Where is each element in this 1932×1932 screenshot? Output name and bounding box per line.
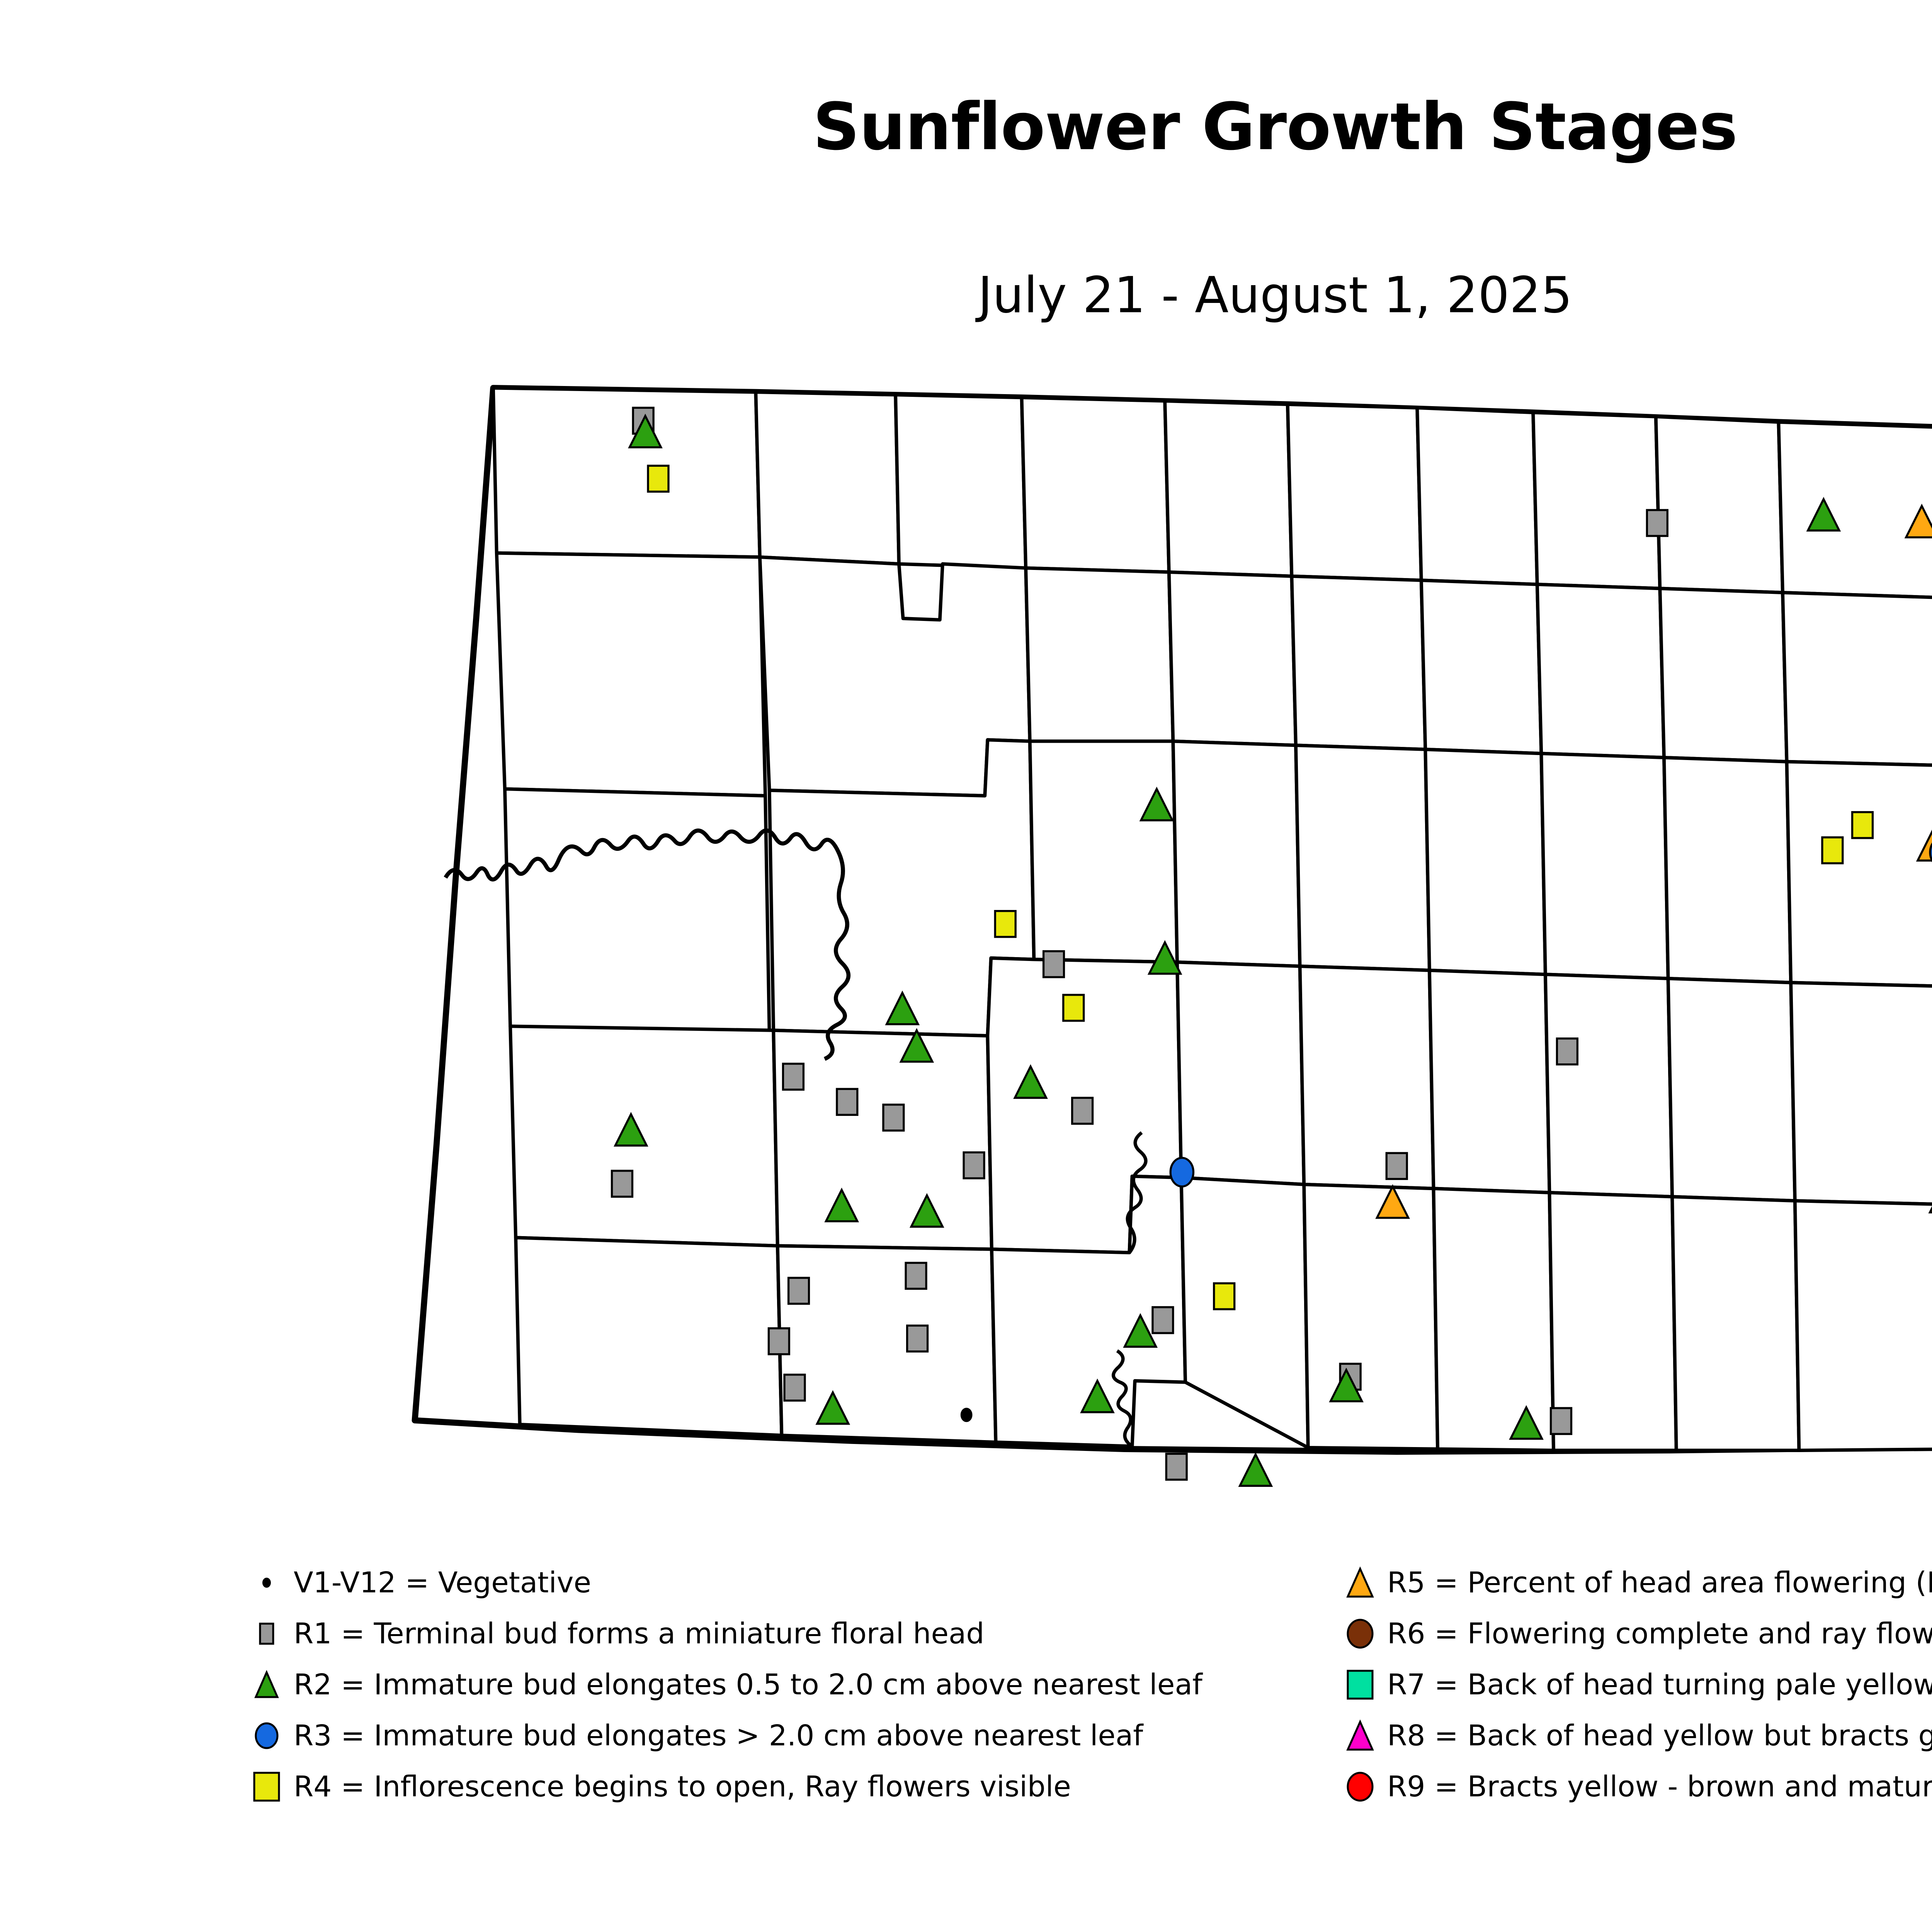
map-marker-r1[interactable] — [1044, 951, 1064, 977]
legend-row: R5 = Percent of head area flowering (Ex:… — [1333, 1557, 1932, 1608]
map-marker-r1[interactable] — [837, 1089, 857, 1115]
north-dakota-map[interactable] — [348, 359, 1932, 1519]
map-marker-r1[interactable] — [964, 1152, 984, 1178]
legend-symbol-circle — [1348, 1620, 1372, 1648]
legend-row: R2 = Immature bud elongates 0.5 to 2.0 c… — [240, 1659, 1321, 1710]
legend-swatch — [1333, 1568, 1387, 1598]
map-marker-r1[interactable] — [1647, 510, 1667, 536]
sunflower-growth-stages-map-page: Sunflower Growth Stages July 21 - August… — [0, 0, 1932, 1932]
legend-symbol-triangle — [1348, 1722, 1372, 1750]
map-marker-r1[interactable] — [907, 1326, 928, 1352]
legend-row: R7 = Back of head turning pale yellow — [1333, 1659, 1932, 1710]
map-marker-r1[interactable] — [784, 1375, 805, 1401]
legend-swatch — [1333, 1670, 1387, 1700]
legend-symbol-circle — [263, 1578, 270, 1587]
legend-label: V1-V12 = Vegetative — [294, 1566, 591, 1599]
legend-label: R8 = Back of head yellow but bracts gree… — [1387, 1719, 1932, 1752]
legend-label: R3 = Immature bud elongates > 2.0 cm abo… — [294, 1719, 1143, 1752]
map-marker-r4[interactable] — [995, 911, 1015, 937]
county-boundaries — [415, 388, 1932, 1452]
legend-swatch — [240, 1772, 294, 1802]
map-marker-r1[interactable] — [769, 1328, 789, 1354]
legend-row: V1-V12 = Vegetative — [240, 1557, 1321, 1608]
map-marker-r4[interactable] — [648, 466, 668, 492]
legend-symbol-square — [260, 1624, 273, 1644]
page-subtitle: July 21 - August 1, 2025 — [0, 267, 1932, 324]
map-marker-r1[interactable] — [783, 1064, 803, 1090]
legend-row: R3 = Immature bud elongates > 2.0 cm abo… — [240, 1710, 1321, 1761]
map-marker-v1-v12[interactable] — [961, 1409, 971, 1421]
map-marker-r1[interactable] — [1551, 1408, 1571, 1434]
legend-label: R7 = Back of head turning pale yellow — [1387, 1668, 1932, 1701]
map-marker-r1[interactable] — [1166, 1454, 1187, 1480]
map-marker-r4[interactable] — [1852, 812, 1873, 838]
legend-column-right: R5 = Percent of head area flowering (Ex:… — [1333, 1557, 1932, 1812]
legend-label: R2 = Immature bud elongates 0.5 to 2.0 c… — [294, 1668, 1202, 1701]
map-marker-r4[interactable] — [1822, 837, 1843, 863]
map-marker-r1[interactable] — [1557, 1039, 1577, 1065]
legend-label: R5 = Percent of head area flowering (Ex:… — [1387, 1566, 1932, 1599]
map-marker-r1[interactable] — [1072, 1098, 1093, 1124]
map-marker-r4[interactable] — [1063, 995, 1084, 1021]
map-marker-r1[interactable] — [1153, 1307, 1173, 1333]
legend-row: R8 = Back of head yellow but bracts gree… — [1333, 1710, 1932, 1761]
legend-symbol-triangle — [256, 1672, 277, 1697]
legend-symbol-circle — [1348, 1773, 1372, 1801]
legend-swatch — [240, 1722, 294, 1749]
legend-symbol-square — [254, 1773, 279, 1801]
legend-label: R1 = Terminal bud forms a miniature flor… — [294, 1617, 984, 1650]
map-marker-r1[interactable] — [883, 1105, 904, 1131]
map-marker-r4[interactable] — [1214, 1283, 1235, 1309]
legend-symbol-triangle — [1348, 1569, 1372, 1597]
map-marker-r1[interactable] — [1386, 1153, 1407, 1179]
legend-label: R6 = Flowering complete and ray flowers … — [1387, 1617, 1932, 1650]
legend-symbol-square — [1348, 1671, 1372, 1699]
legend-swatch — [240, 1577, 294, 1588]
map-marker-r3[interactable] — [1170, 1158, 1193, 1186]
legend-column-left: V1-V12 = VegetativeR1 = Terminal bud for… — [240, 1557, 1321, 1812]
legend-label: R9 = Bracts yellow - brown and mature — [1387, 1770, 1932, 1803]
map-marker-r1[interactable] — [612, 1171, 633, 1197]
legend-swatch — [1333, 1619, 1387, 1649]
legend-swatch — [1333, 1721, 1387, 1751]
legend-symbol-circle — [256, 1723, 277, 1748]
legend-swatch — [240, 1671, 294, 1698]
legend-swatch — [1333, 1772, 1387, 1802]
legend-swatch — [240, 1622, 294, 1645]
map-marker-r2[interactable] — [1240, 1454, 1271, 1486]
legend-row: R4 = Inflorescence begins to open, Ray f… — [240, 1761, 1321, 1812]
map-marker-r1[interactable] — [789, 1278, 809, 1304]
map-marker-r1[interactable] — [906, 1263, 926, 1289]
legend-row: R1 = Terminal bud forms a miniature flor… — [240, 1608, 1321, 1659]
legend-row: R9 = Bracts yellow - brown and mature — [1333, 1761, 1932, 1812]
page-title: Sunflower Growth Stages — [0, 89, 1932, 165]
legend-label: R4 = Inflorescence begins to open, Ray f… — [294, 1770, 1071, 1803]
legend-row: R6 = Flowering complete and ray flowers … — [1333, 1608, 1932, 1659]
